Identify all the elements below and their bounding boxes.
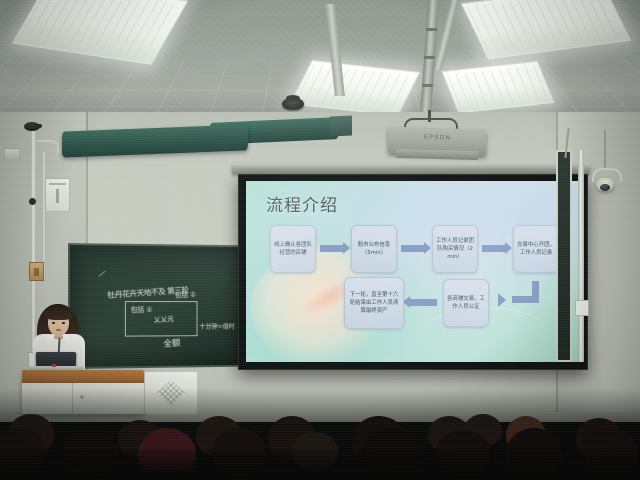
chalk-writing: 牡丹花卉天地不及 第三轮 包括 ① 包括 ① 乂乂元 十分钟=倍时 全额 (70, 245, 246, 367)
wall-conduit (42, 152, 46, 280)
flow-box-2: 股市公布信息（5min） (351, 225, 397, 273)
flow-box-1: 线上确认各团队经营的店铺 (270, 225, 316, 273)
dome-security-camera-icon (596, 178, 614, 191)
presenter-fringe (45, 306, 73, 320)
electrical-box (29, 262, 44, 281)
flow-box-4-text: 交易中心开团，工作人员记录 (517, 241, 555, 257)
wall-vent (4, 148, 20, 160)
chalk-mark (98, 270, 105, 276)
chalk-note: 乂乂元 (154, 314, 175, 325)
flow-box-6: 下一轮，直至第十六轮结束由工作人员清算最终资产 (344, 277, 404, 329)
presenter-collar (61, 334, 70, 345)
screen-roller-housing (232, 163, 590, 174)
flow-box-5-text: 各商铺交易，工作人员公证 (447, 295, 485, 311)
slide-surface: 流程介绍 线上确认各团队经营的店铺 股市公布信息（5min） 工作人员记录团队购… (246, 181, 580, 362)
flow-box-3-text: 工作人员记录团队购买情况（2min） (436, 237, 474, 261)
blackboard: 牡丹花卉天地不及 第三轮 包括 ① 包括 ① 乂乂元 十分钟=倍时 全额 (68, 243, 248, 369)
flow-arrow-5-to-6 (409, 299, 437, 306)
podium-wooden-top (22, 370, 144, 383)
chalk-note: 十分钟=倍时 (199, 320, 234, 330)
presenter-collar (47, 334, 56, 345)
ceiling (0, 0, 640, 122)
wall-conduit (578, 150, 584, 362)
presenter-eye (52, 322, 55, 324)
chalk-note: 包括 ① (131, 305, 153, 315)
valance-end-cap (330, 116, 352, 137)
audience (0, 388, 640, 480)
conduit-fitting (29, 198, 36, 205)
flow-box-3: 工作人员记录团队购买情况（2min） (432, 225, 478, 273)
projector-brand-label: EPSON (424, 135, 451, 142)
audience-foreground-shadow (0, 450, 640, 480)
flow-elbow-arrowhead (498, 293, 506, 307)
chalk-note: 包括 ① (175, 290, 197, 301)
camera-wire (604, 130, 606, 170)
sign-pictogram (56, 189, 59, 203)
junction-box (575, 300, 589, 316)
flow-diagram: 线上确认各团队经营的店铺 股市公布信息（5min） 工作人员记录团队购买情况（2… (246, 181, 580, 362)
flow-arrow-2-to-3 (401, 245, 425, 252)
flow-box-4: 交易中心开团，工作人员记录 (513, 225, 559, 273)
flow-box-6-text: 下一轮，直至第十六轮结束由工作人员清算最终资产 (348, 291, 400, 315)
chalk-note: 全额 (163, 336, 181, 350)
classroom-photo: 牡丹花卉天地不及 第三轮 包括 ① 包括 ① 乂乂元 十分钟=倍时 全额 EPS… (0, 0, 640, 480)
presenter-eye (62, 322, 65, 324)
wall-sign (45, 178, 70, 212)
laptop-power-led (52, 364, 56, 367)
projection-screen: 流程介绍 线上确认各团队经营的店铺 股市公布信息（5min） 工作人员记录团队购… (238, 174, 588, 370)
smoke-detector-icon (282, 98, 304, 110)
flow-elbow-horizontal (512, 296, 539, 303)
flow-arrow-1-to-2 (320, 245, 344, 252)
presenter-mouth (56, 329, 61, 331)
flow-box-2-text: 股市公布信息（5min） (355, 241, 393, 257)
conduit-elbow (33, 140, 59, 154)
flow-box-1-text: 线上确认各团队经营的店铺 (274, 241, 312, 257)
ceiling-camera-icon (24, 122, 40, 131)
flow-box-5: 各商铺交易，工作人员公证 (443, 279, 489, 327)
window-edge (556, 150, 572, 362)
sign-header-bar (49, 183, 66, 185)
flow-arrow-3-to-4 (482, 245, 506, 252)
